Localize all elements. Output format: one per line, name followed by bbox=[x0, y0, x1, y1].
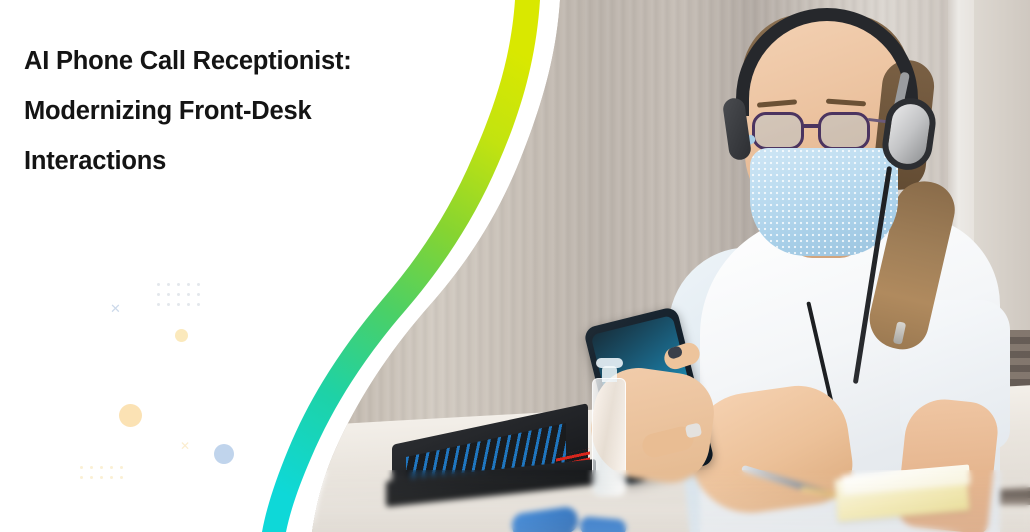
eyeglasses-lens-left bbox=[752, 112, 804, 150]
blog-hero-banner: AI Phone Call Receptionist: Modernizing … bbox=[0, 0, 1030, 532]
eyeglasses-bridge bbox=[803, 124, 821, 128]
text-panel: AI Phone Call Receptionist: Modernizing … bbox=[0, 0, 520, 532]
page-title: AI Phone Call Receptionist: Modernizing … bbox=[24, 36, 454, 186]
headphones-headband bbox=[736, 8, 918, 116]
eyeglasses-lens-right bbox=[818, 112, 870, 150]
